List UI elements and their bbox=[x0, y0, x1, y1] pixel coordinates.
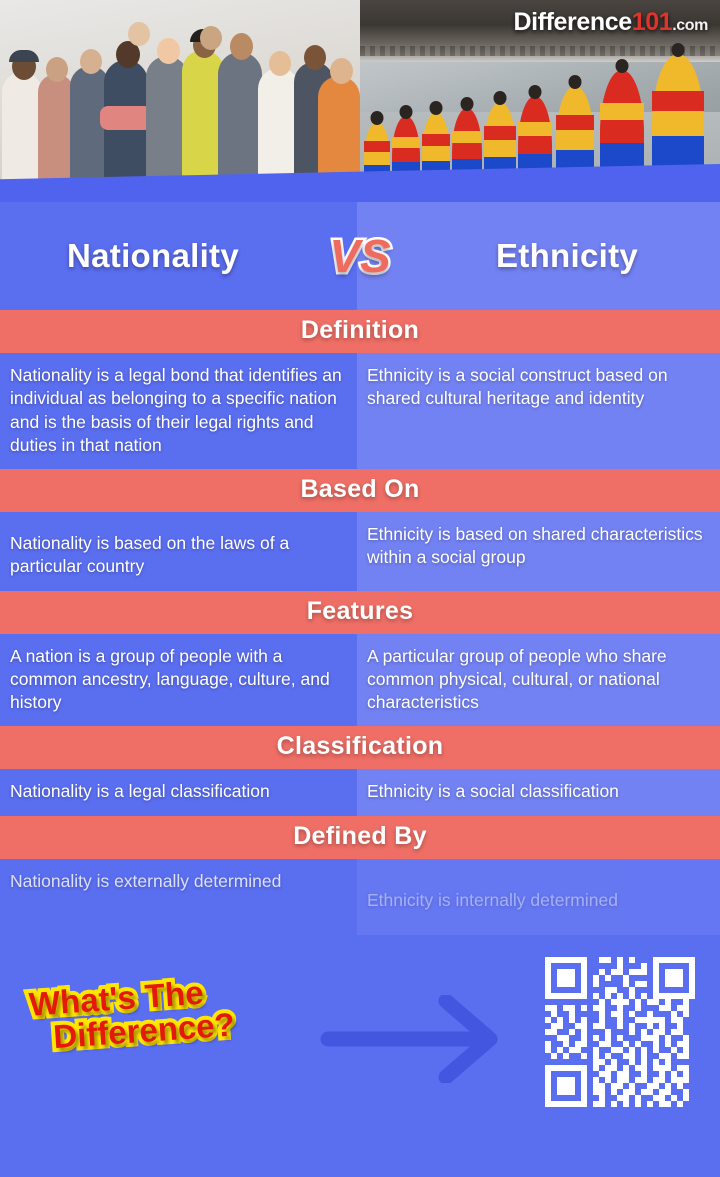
qr-code[interactable] bbox=[545, 957, 695, 1107]
section-heading: Based On bbox=[0, 469, 720, 512]
section-heading: Definition bbox=[0, 310, 720, 353]
section-classification: Classification Nationality is a legal cl… bbox=[0, 726, 720, 815]
section-heading: Classification bbox=[0, 726, 720, 769]
logo-name: Difference bbox=[513, 8, 631, 36]
section-body: Nationality is externally determined Eth… bbox=[0, 859, 720, 935]
section-body: A nation is a group of people with a com… bbox=[0, 634, 720, 727]
section-cell-left: Nationality is a legal classification bbox=[0, 769, 357, 815]
section-cell-left: Nationality is externally determined bbox=[0, 859, 357, 935]
section-heading: Defined By bbox=[0, 816, 720, 859]
section-body: Nationality is a legal classification Et… bbox=[0, 769, 720, 815]
section-body: Nationality is based on the laws of a pa… bbox=[0, 512, 720, 591]
section-cell-left: Nationality is based on the laws of a pa… bbox=[0, 512, 357, 591]
title-right-term: Ethnicity bbox=[414, 237, 720, 275]
section-cell-right: Ethnicity is a social construct based on… bbox=[357, 353, 720, 469]
section-cell-right: Ethnicity is based on shared characteris… bbox=[357, 512, 720, 591]
section-cell-left: A nation is a group of people with a com… bbox=[0, 634, 357, 727]
section-body: Nationality is a legal bond that identif… bbox=[0, 353, 720, 469]
section-heading: Features bbox=[0, 591, 720, 634]
section-cell-right: A particular group of people who share c… bbox=[357, 634, 720, 727]
logo-number: 101 bbox=[632, 8, 673, 36]
section-cell-right: Ethnicity is a social classification bbox=[357, 769, 720, 815]
section-defined-by: Defined By Nationality is externally det… bbox=[0, 816, 720, 935]
vs-badge: VS bbox=[306, 229, 414, 283]
section-definition: Definition Nationality is a legal bond t… bbox=[0, 310, 720, 469]
hero-banner: Difference101.com bbox=[0, 0, 720, 202]
section-based-on: Based On Nationality is based on the law… bbox=[0, 469, 720, 591]
title-left-term: Nationality bbox=[0, 237, 306, 275]
whats-the-difference-label: What's The Difference? bbox=[28, 970, 282, 1056]
section-cell-left: Nationality is a legal bond that identif… bbox=[0, 353, 357, 469]
site-logo[interactable]: Difference101.com bbox=[513, 8, 708, 37]
right-arrow-icon bbox=[318, 995, 528, 1083]
section-cell-right: Ethnicity is internally determined bbox=[357, 859, 720, 935]
logo-tld: .com bbox=[672, 17, 708, 34]
photo-diverse-group bbox=[0, 0, 360, 202]
section-features: Features A nation is a group of people w… bbox=[0, 591, 720, 727]
footer-cta: What's The Difference? bbox=[0, 935, 720, 1112]
comparison-title-band: Nationality VS Ethnicity bbox=[0, 202, 720, 310]
